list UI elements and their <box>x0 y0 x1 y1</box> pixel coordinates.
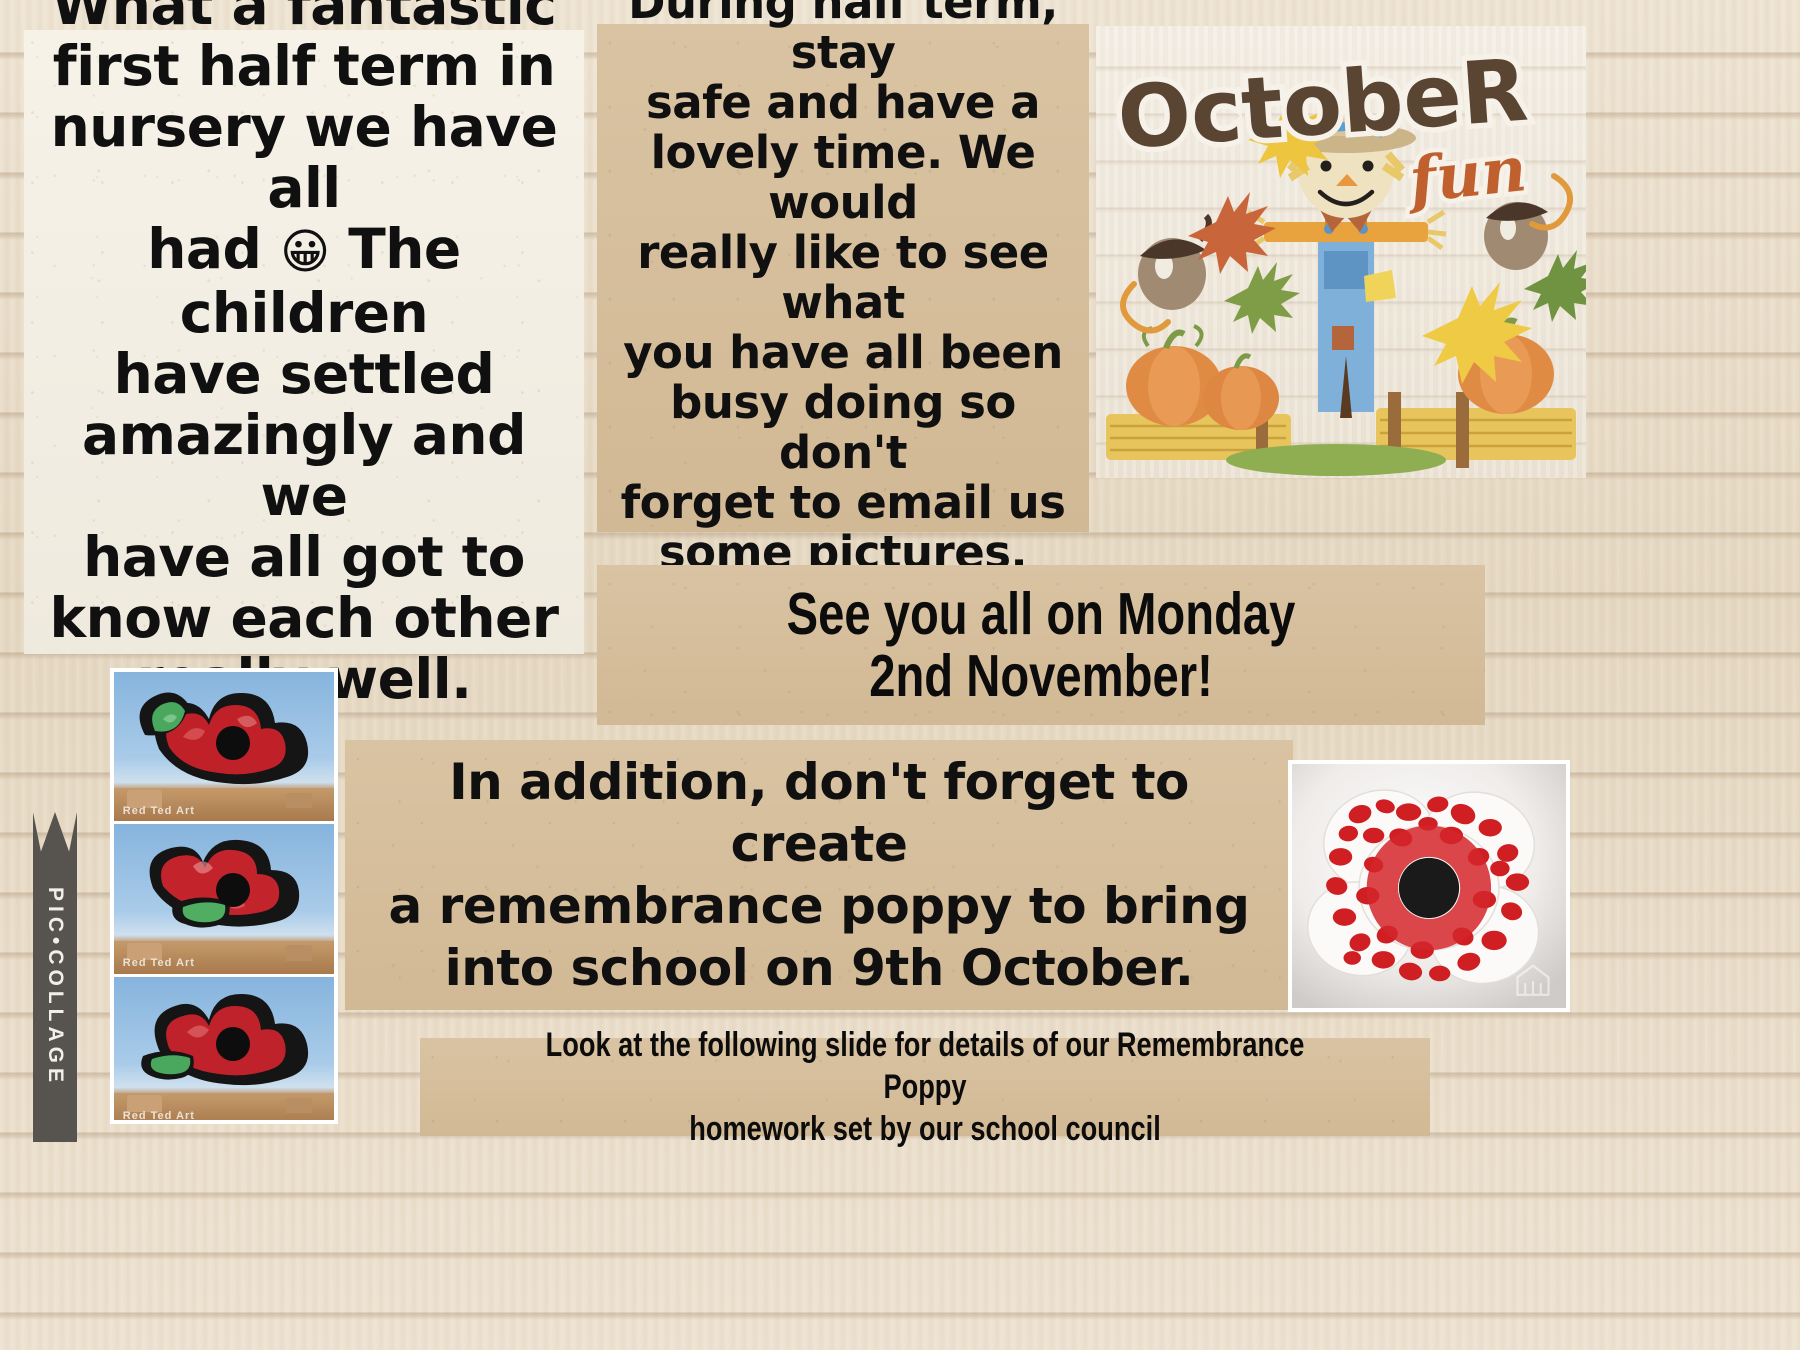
monday-banner-panel: See you all on Monday 2nd November! <box>597 565 1485 725</box>
poppy-craft-3 <box>129 984 319 1104</box>
poppy-instruction-panel: In addition, don't forget to create a re… <box>345 740 1293 1010</box>
intro-line-1: What a fantastic <box>52 0 557 37</box>
intro-line-5: have settled <box>114 342 495 406</box>
footer-banner-panel: Look at the following slide for details … <box>420 1038 1430 1136</box>
intro-line-2: first half term in <box>53 34 555 98</box>
pumpkin-stem <box>1166 333 1184 348</box>
acorn-left <box>1138 216 1209 310</box>
october-fun-illustration: OctobeR fun <box>1096 26 1586 478</box>
red-ted-art-watermark: Red Ted Art <box>123 805 195 817</box>
scarecrow-arms <box>1264 222 1428 242</box>
october-fun-graphic: OctobeR fun <box>1096 26 1586 478</box>
intro-line-7: have all got to <box>83 525 525 589</box>
fun-script-text: fun <box>1402 132 1530 217</box>
scarecrow-eye-right <box>1363 161 1374 172</box>
intro-line-6: amazingly and we <box>82 403 526 528</box>
half-term-text: During half term, stay safe and have a l… <box>597 0 1089 578</box>
main-poppy-photo[interactable] <box>1288 760 1570 1012</box>
poppy-instruction-text: In addition, don't forget to create a re… <box>345 751 1293 999</box>
pic-collage-watermark-ribbon: PIC•COLLAGE <box>33 812 77 1142</box>
red-ted-art-watermark: Red Ted Art <box>123 957 195 969</box>
overalls-patch <box>1332 326 1354 350</box>
poppy-photo-strip[interactable]: Red Ted Art Red Ted Art <box>110 668 338 1124</box>
fence-post-right <box>1456 392 1469 468</box>
collage-canvas: What a fantasticfirst half term innurser… <box>0 0 1800 1350</box>
intro-text: What a fantasticfirst half term innurser… <box>24 0 584 710</box>
monday-text: See you all on Monday 2nd November! <box>787 583 1296 707</box>
grass-mound <box>1226 444 1446 476</box>
straw-hand-right <box>1428 212 1446 248</box>
fun-script: fun <box>1402 132 1530 217</box>
scarecrow-eye-left <box>1321 161 1332 172</box>
poppy-photo-2[interactable]: Red Ted Art <box>114 821 334 973</box>
poppy-craft-1 <box>129 679 319 799</box>
acorn-right <box>1484 202 1548 270</box>
overalls-pocket <box>1324 251 1368 289</box>
poppy-photo-1[interactable]: Red Ted Art <box>114 672 334 821</box>
intro-line-4-pre: had <box>147 217 280 281</box>
half-term-message-panel: During half term, stay safe and have a l… <box>597 24 1089 532</box>
grinning-face-emoji: 😀 <box>280 224 330 280</box>
footer-text: Look at the following slide for details … <box>521 1024 1329 1150</box>
poppy-craft-2 <box>129 832 319 952</box>
pic-collage-label: PIC•COLLAGE <box>43 887 67 1087</box>
intro-line-3: nursery we have all <box>51 95 558 220</box>
maple-leaf-green <box>1224 262 1300 334</box>
intro-line-8: know each other <box>50 586 559 650</box>
intro-text-panel: What a fantasticfirst half term innurser… <box>24 30 584 654</box>
red-ted-art-watermark: Red Ted Art <box>123 1110 195 1122</box>
paper-plate-poppy <box>1292 764 1566 1008</box>
poppy-black-centre <box>1399 858 1459 918</box>
poppy-photo-3[interactable]: Red Ted Art <box>114 974 334 1124</box>
